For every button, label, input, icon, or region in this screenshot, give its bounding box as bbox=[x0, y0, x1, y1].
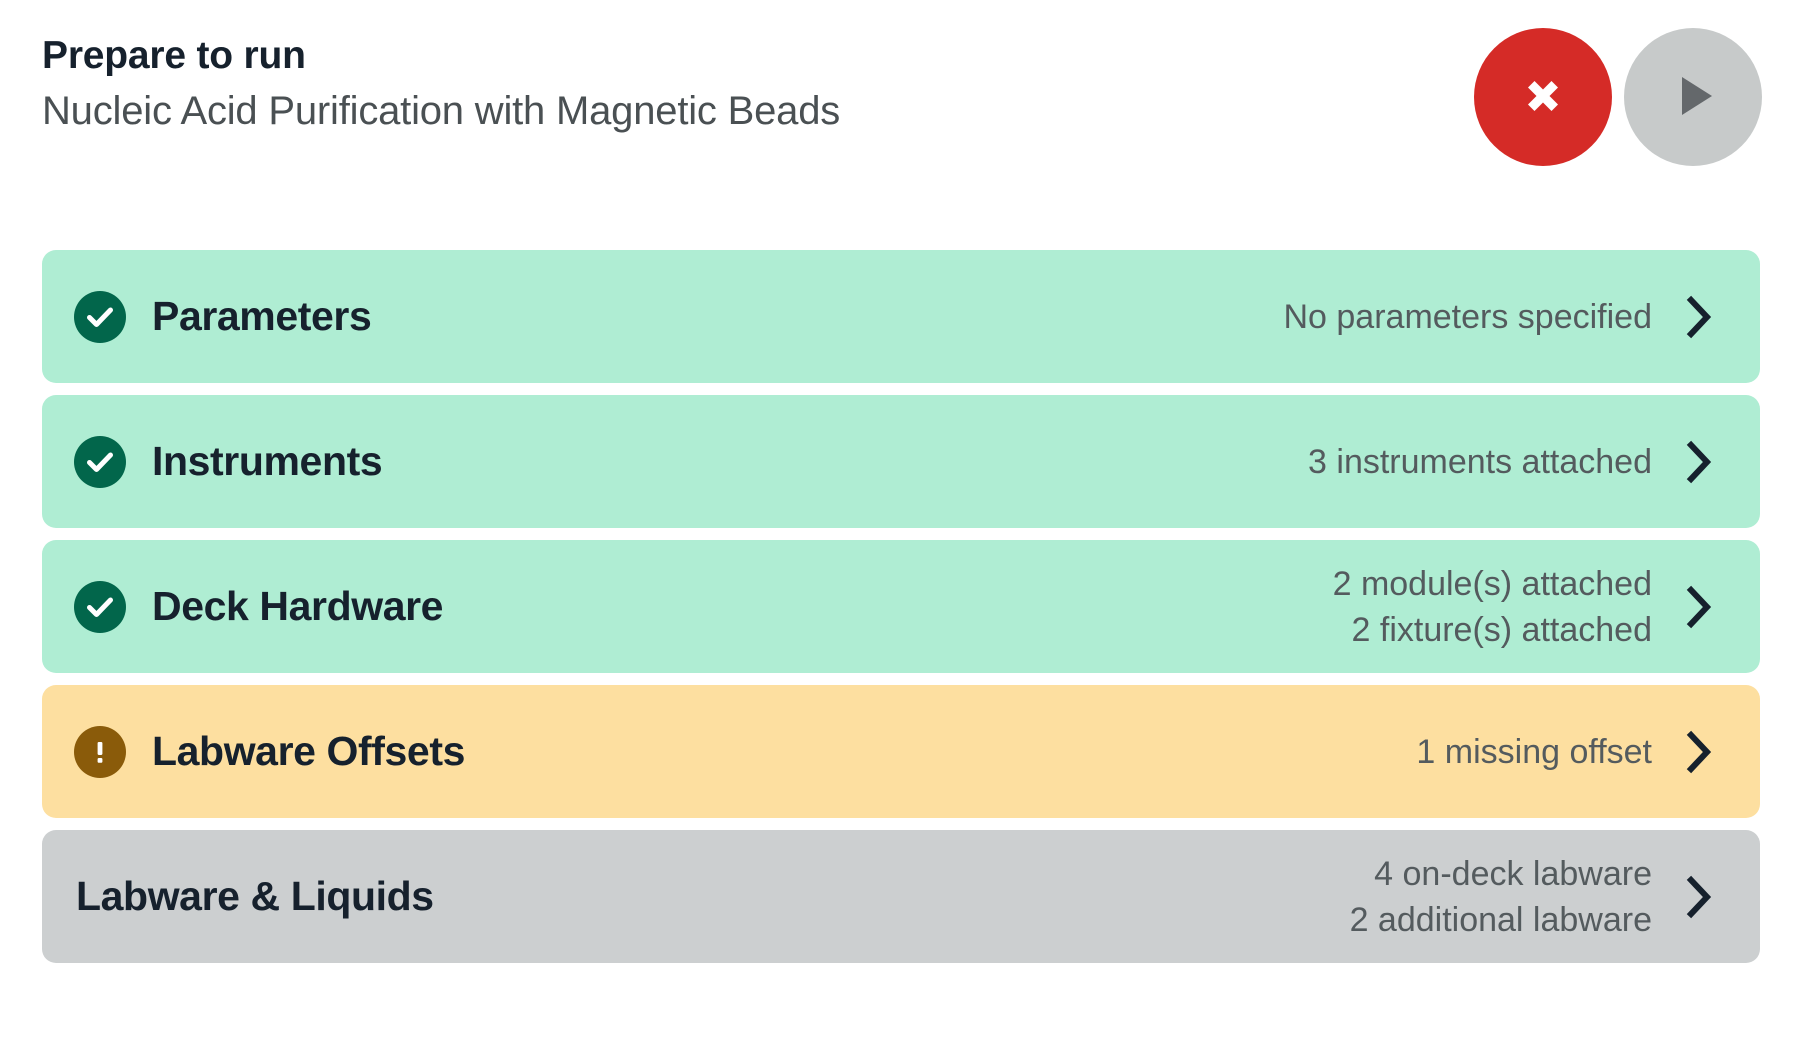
row-detail-line-1: 4 on-deck labware bbox=[1374, 855, 1652, 893]
row-detail: No parameters specified bbox=[1283, 294, 1652, 340]
row-detail: 4 on-deck labware 2 additional labware bbox=[1350, 851, 1652, 943]
chevron-right-icon[interactable] bbox=[1682, 584, 1716, 630]
row-left-group: Instruments bbox=[74, 436, 382, 488]
page-title: Prepare to run bbox=[42, 30, 840, 82]
setup-row-labware-and-liquids[interactable]: Labware & Liquids 4 on-deck labware 2 ad… bbox=[42, 830, 1760, 963]
row-title: Labware Offsets bbox=[152, 728, 465, 775]
header-actions bbox=[1474, 28, 1762, 166]
row-detail: 1 missing offset bbox=[1416, 729, 1652, 775]
row-right-group: 2 module(s) attached 2 fixture(s) attach… bbox=[1333, 561, 1716, 653]
close-icon bbox=[1512, 65, 1574, 130]
row-detail-line-2: 2 fixture(s) attached bbox=[1333, 607, 1652, 653]
check-circle-icon bbox=[74, 436, 126, 488]
play-button[interactable] bbox=[1624, 28, 1762, 166]
row-detail-line-1: 2 module(s) attached bbox=[1333, 565, 1652, 603]
play-icon bbox=[1662, 65, 1724, 130]
chevron-right-icon[interactable] bbox=[1682, 439, 1716, 485]
row-right-group: 1 missing offset bbox=[1416, 729, 1716, 775]
row-left-group: Deck Hardware bbox=[74, 581, 443, 633]
chevron-right-icon[interactable] bbox=[1682, 294, 1716, 340]
row-right-group: 4 on-deck labware 2 additional labware bbox=[1350, 851, 1716, 943]
chevron-right-icon[interactable] bbox=[1682, 874, 1716, 920]
row-left-group: Parameters bbox=[74, 291, 371, 343]
row-detail: 3 instruments attached bbox=[1308, 439, 1652, 485]
row-title: Deck Hardware bbox=[152, 583, 443, 630]
protocol-name: Nucleic Acid Purification with Magnetic … bbox=[42, 84, 840, 138]
row-detail: 2 module(s) attached 2 fixture(s) attach… bbox=[1333, 561, 1652, 653]
setup-row-deck-hardware[interactable]: Deck Hardware 2 module(s) attached 2 fix… bbox=[42, 540, 1760, 673]
page-header: Prepare to run Nucleic Acid Purification… bbox=[0, 0, 1800, 210]
setup-row-instruments[interactable]: Instruments 3 instruments attached bbox=[42, 395, 1760, 528]
row-title: Parameters bbox=[152, 293, 371, 340]
setup-row-parameters[interactable]: Parameters No parameters specified bbox=[42, 250, 1760, 383]
alert-circle-icon bbox=[74, 726, 126, 778]
chevron-right-icon[interactable] bbox=[1682, 729, 1716, 775]
header-text-block: Prepare to run Nucleic Acid Purification… bbox=[42, 30, 840, 138]
setup-row-labware-offsets[interactable]: Labware Offsets 1 missing offset bbox=[42, 685, 1760, 818]
row-title: Instruments bbox=[152, 438, 382, 485]
row-detail-line-1: 3 instruments attached bbox=[1308, 443, 1652, 481]
row-left-group: Labware & Liquids bbox=[76, 873, 434, 920]
row-left-group: Labware Offsets bbox=[74, 726, 465, 778]
row-right-group: No parameters specified bbox=[1283, 294, 1716, 340]
close-button[interactable] bbox=[1474, 28, 1612, 166]
row-title: Labware & Liquids bbox=[76, 873, 434, 920]
setup-step-list: Parameters No parameters specified Instr… bbox=[42, 250, 1760, 975]
row-right-group: 3 instruments attached bbox=[1308, 439, 1716, 485]
row-detail-line-1: No parameters specified bbox=[1283, 298, 1652, 336]
row-detail-line-1: 1 missing offset bbox=[1416, 733, 1652, 771]
row-detail-line-2: 2 additional labware bbox=[1350, 897, 1652, 943]
check-circle-icon bbox=[74, 291, 126, 343]
check-circle-icon bbox=[74, 581, 126, 633]
